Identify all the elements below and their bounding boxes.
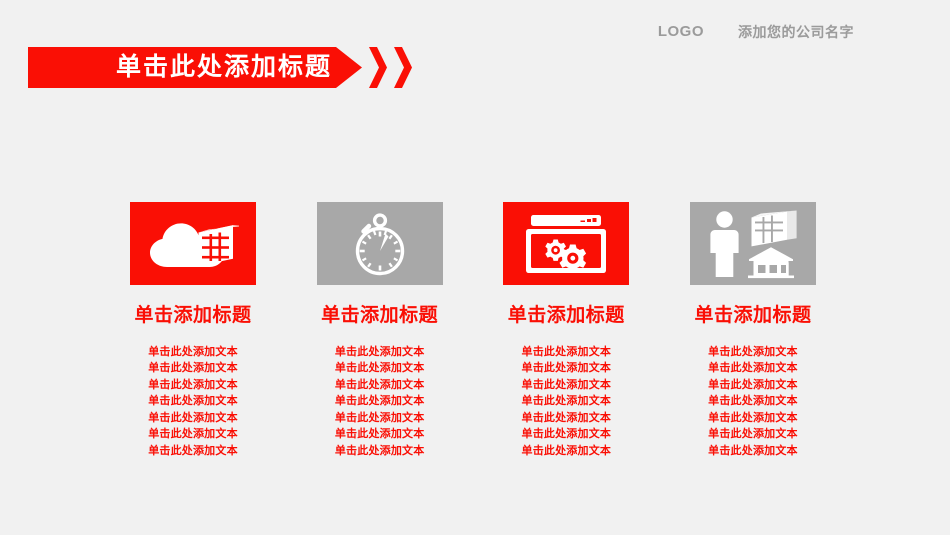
logo-bar: LOGO 添加您的公司名字 (658, 24, 854, 39)
feature-cards-row: 单击添加标题 单击此处添加文本 单击此处添加文本 单击此处添加文本 单击此处添加… (120, 202, 826, 458)
card-body-line: 单击此处添加文本 (522, 378, 612, 393)
chevron-right-icon (369, 47, 387, 88)
cloud-building-icon (147, 215, 239, 273)
icon-tile[interactable] (317, 202, 443, 285)
card-body-lines: 单击此处添加文本 单击此处添加文本 单击此处添加文本 单击此处添加文本 单击此处… (522, 345, 612, 459)
banner-arrow-point (336, 47, 362, 88)
card-body-line: 单击此处添加文本 (335, 361, 425, 376)
logo-placeholder: LOGO (658, 24, 704, 39)
company-name-label: 添加您的公司名字 (738, 25, 854, 39)
feature-card[interactable]: 单击添加标题 单击此处添加文本 单击此处添加文本 单击此处添加文本 单击此处添加… (120, 202, 266, 458)
card-body-line: 单击此处添加文本 (522, 361, 612, 376)
card-body-line: 单击此处添加文本 (148, 394, 238, 409)
card-body-line: 单击此处添加文本 (335, 378, 425, 393)
card-body-line: 单击此处添加文本 (335, 411, 425, 426)
card-body-line: 单击此处添加文本 (148, 411, 238, 426)
icon-tile[interactable] (503, 202, 629, 285)
card-body-line: 单击此处添加文本 (522, 444, 612, 459)
card-body-line: 单击此处添加文本 (148, 427, 238, 442)
card-body-line: 单击此处添加文本 (708, 345, 798, 360)
card-body-lines: 单击此处添加文本 单击此处添加文本 单击此处添加文本 单击此处添加文本 单击此处… (708, 345, 798, 459)
card-body-line: 单击此处添加文本 (522, 394, 612, 409)
card-body-line: 单击此处添加文本 (522, 427, 612, 442)
card-body-line: 单击此处添加文本 (335, 427, 425, 442)
person-buildings-icon (705, 209, 801, 279)
card-body-line: 单击此处添加文本 (335, 394, 425, 409)
feature-card[interactable]: 单击添加标题 单击此处添加文本 单击此处添加文本 单击此处添加文本 单击此处添加… (307, 202, 453, 458)
card-body-line: 单击此处添加文本 (148, 345, 238, 360)
icon-tile[interactable] (690, 202, 816, 285)
card-body-line: 单击此处添加文本 (335, 444, 425, 459)
icon-tile[interactable] (130, 202, 256, 285)
banner-chevrons (369, 47, 412, 88)
card-body-line: 单击此处添加文本 (148, 444, 238, 459)
card-title: 单击添加标题 (129, 303, 257, 329)
card-body-line: 单击此处添加文本 (522, 345, 612, 360)
card-body-lines: 单击此处添加文本 单击此处添加文本 单击此处添加文本 单击此处添加文本 单击此处… (148, 345, 238, 459)
browser-gears-icon (524, 213, 608, 275)
card-body-line: 单击此处添加文本 (148, 361, 238, 376)
card-body-line: 单击此处添加文本 (708, 394, 798, 409)
title-banner[interactable]: 单击此处添加标题 (28, 47, 412, 88)
card-body-line: 单击此处添加文本 (708, 444, 798, 459)
feature-card[interactable]: 单击添加标题 单击此处添加文本 单击此处添加文本 单击此处添加文本 单击此处添加… (493, 202, 639, 458)
card-body-line: 单击此处添加文本 (708, 378, 798, 393)
card-body-line: 单击此处添加文本 (148, 378, 238, 393)
card-body-line: 单击此处添加文本 (708, 411, 798, 426)
chevron-right-icon (394, 47, 412, 88)
slide-title: 单击此处添加标题 (116, 55, 332, 80)
banner-body: 单击此处添加标题 (28, 47, 336, 88)
card-title: 单击添加标题 (316, 303, 444, 329)
card-body-lines: 单击此处添加文本 单击此处添加文本 单击此处添加文本 单击此处添加文本 单击此处… (335, 345, 425, 459)
card-body-line: 单击此处添加文本 (335, 345, 425, 360)
stopwatch-icon (348, 211, 412, 277)
card-body-line: 单击此处添加文本 (708, 361, 798, 376)
feature-card[interactable]: 单击添加标题 单击此处添加文本 单击此处添加文本 单击此处添加文本 单击此处添加… (680, 202, 826, 458)
card-body-line: 单击此处添加文本 (708, 427, 798, 442)
card-body-line: 单击此处添加文本 (522, 411, 612, 426)
card-title: 单击添加标题 (502, 303, 630, 329)
card-title: 单击添加标题 (689, 303, 817, 329)
